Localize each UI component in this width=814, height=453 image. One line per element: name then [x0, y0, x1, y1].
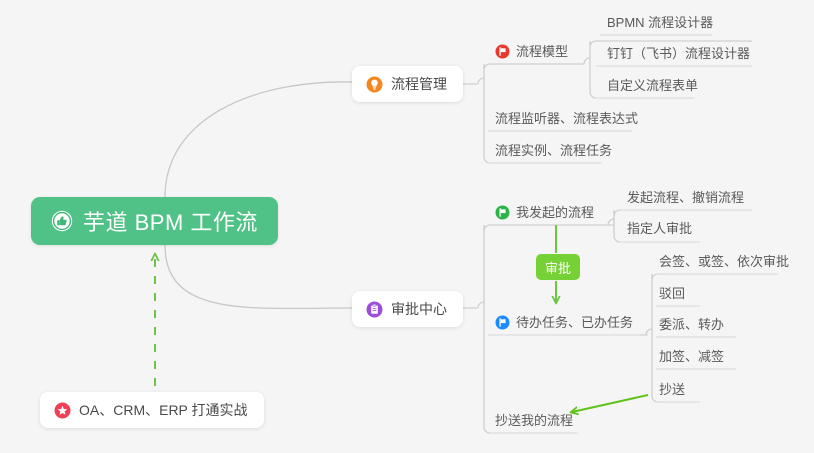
leaf-chaosongwo-label: 抄送我的流程 [495, 414, 573, 427]
leaf-chaosongwo[interactable]: 抄送我的流程 [486, 407, 582, 433]
leaf-chaosong-label: 抄送 [659, 383, 685, 396]
leaf-shili[interactable]: 流程实例、流程任务 [486, 137, 621, 163]
leaf-chaosong[interactable]: 抄送 [650, 376, 694, 402]
branch-liucheng-guanli-label: 流程管理 [391, 74, 447, 94]
clipboard-icon [366, 301, 383, 318]
arrow-cc-to-myflow [572, 395, 648, 412]
node-wofaqi[interactable]: 我发起的流程 [486, 199, 603, 225]
leaf-bohui[interactable]: 驳回 [650, 280, 694, 306]
leaf-huiqian[interactable]: 会签、或签、依次审批 [650, 248, 798, 274]
root-label: 芋道 BPM 工作流 [83, 205, 258, 237]
leaf-shili-label: 流程实例、流程任务 [495, 144, 612, 157]
leaf-weipai[interactable]: 委派、转办 [650, 311, 733, 337]
leaf-huiqian-label: 会签、或签、依次审批 [659, 255, 789, 268]
leaf-dingding[interactable]: 钉钉（飞书）流程设计器 [598, 40, 759, 66]
leaf-bohui-label: 驳回 [659, 287, 685, 300]
spine-liucheng-guanli [472, 64, 484, 157]
mindmap-canvas[interactable]: 芋道 BPM 工作流 OA、CRM、ERP 打通实战 流程管理 [0, 0, 814, 453]
node-liucheng-moxing[interactable]: 流程模型 [486, 38, 577, 64]
star-circle-icon [54, 402, 71, 419]
node-wofaqi-label: 我发起的流程 [516, 206, 594, 219]
node-liucheng-moxing-label: 流程模型 [516, 45, 568, 58]
leaf-bpmn-label: BPMN 流程设计器 [607, 16, 713, 29]
node-daiban-label: 待办任务、已办任务 [516, 316, 633, 329]
spine-liucheng-guanli-top-cap [484, 64, 578, 70]
note-oa-label: OA、CRM、ERP 打通实战 [79, 400, 248, 420]
branch-shenpi-zhongxin-label: 审批中心 [391, 299, 447, 319]
leaf-jiantingqi-label: 流程监听器、流程表达式 [495, 112, 638, 125]
leaf-zhiding[interactable]: 指定人审批 [618, 215, 701, 241]
leaf-zhiding-label: 指定人审批 [627, 222, 692, 235]
spine-shenpi-zhongxin-top-cap [484, 225, 614, 231]
flag-green-icon [495, 205, 510, 220]
leaf-weipai-label: 委派、转办 [659, 318, 724, 331]
edge-root-to-liucheng-guanli [165, 82, 352, 197]
leaf-biaodan[interactable]: 自定义流程表单 [598, 72, 707, 98]
annotation-chip-approve-label: 审批 [545, 258, 571, 277]
leaf-bpmn[interactable]: BPMN 流程设计器 [598, 9, 722, 35]
node-daiban[interactable]: 待办任务、已办任务 [486, 309, 642, 335]
branch-shenpi-zhongxin[interactable]: 审批中心 [352, 291, 463, 327]
note-oa-crm-erp[interactable]: OA、CRM、ERP 打通实战 [40, 392, 264, 428]
annotation-chip-approve[interactable]: 审批 [536, 254, 580, 280]
leaf-dingding-label: 钉钉（飞书）流程设计器 [607, 47, 750, 60]
root-node[interactable]: 芋道 BPM 工作流 [31, 197, 278, 245]
spine-shenpi-zhongxin [472, 225, 484, 427]
leaf-biaodan-label: 自定义流程表单 [607, 79, 698, 92]
thumbs-up-icon [51, 210, 73, 232]
branch-liucheng-guanli[interactable]: 流程管理 [352, 66, 463, 102]
spine-liucheng-moxing [578, 41, 590, 92]
flag-blue-icon [495, 315, 510, 330]
flag-red-icon [495, 44, 510, 59]
leaf-faqi[interactable]: 发起流程、撤销流程 [618, 184, 753, 210]
leaf-jiaqian-label: 加签、减签 [659, 350, 724, 363]
spine-wofaqi [608, 210, 614, 236]
lightbulb-icon [366, 76, 383, 93]
leaf-jiantingqi[interactable]: 流程监听器、流程表达式 [486, 105, 647, 131]
leaf-jiaqian[interactable]: 加签、减签 [650, 343, 733, 369]
leaf-faqi-label: 发起流程、撤销流程 [627, 191, 744, 204]
edge-root-to-shenpi-zhongxin [165, 245, 352, 308]
